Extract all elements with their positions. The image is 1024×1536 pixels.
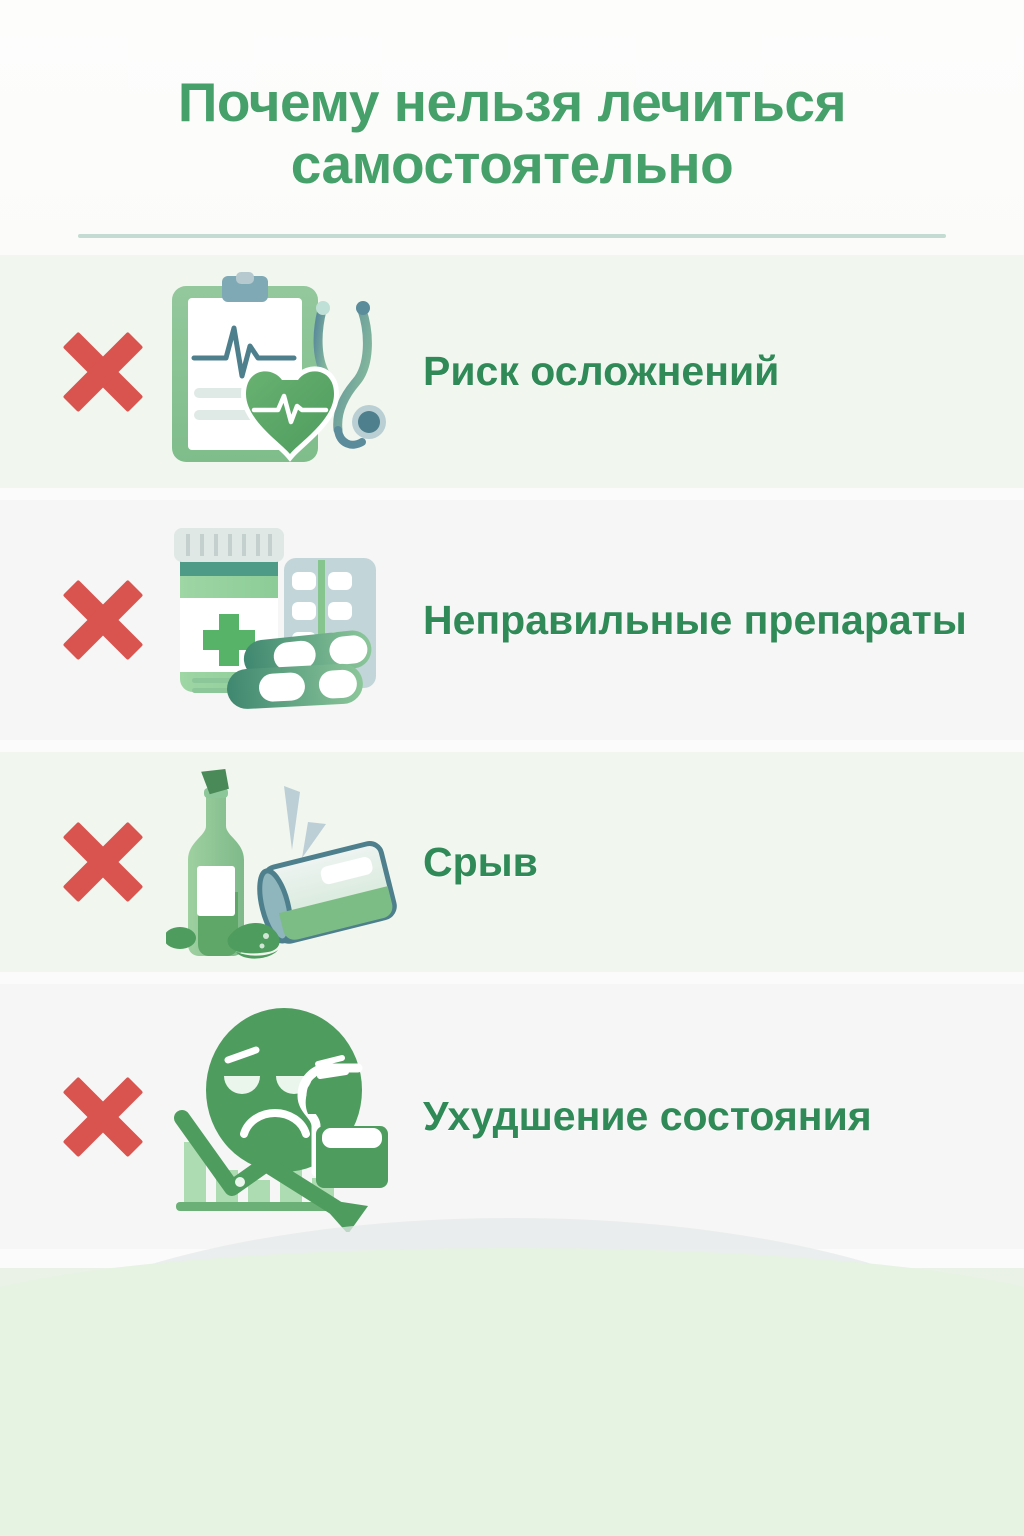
list-item-label: Риск осложнений <box>409 342 1024 400</box>
list-item[interactable]: Срыв <box>0 752 1024 972</box>
list-item[interactable]: Риск осложнений <box>0 255 1024 488</box>
cross-mark-icon <box>55 324 151 420</box>
clipboard-ecg-heart-stethoscope-icon <box>159 272 409 472</box>
cross-mark-icon <box>55 814 151 910</box>
list-item[interactable]: Неправильные препараты <box>0 500 1024 740</box>
list-item-label: Ухудшение состояния <box>409 1087 1024 1145</box>
list-item-label: Срыв <box>409 833 1024 891</box>
list-item[interactable]: Ухудшение состояния <box>0 984 1024 1249</box>
infographic-poster: Почему нельзя лечиться самостоятельно <box>0 0 1024 1536</box>
sad-face-declining-chart-icon <box>159 1002 409 1232</box>
header-divider <box>78 234 946 238</box>
page-title: Почему нельзя лечиться самостоятельно <box>72 72 952 195</box>
reasons-list: Риск осложнений <box>0 255 1024 1261</box>
bottom-fill <box>0 1400 1024 1536</box>
title-line-1: Почему нельзя лечиться <box>178 71 846 133</box>
poster-header: Почему нельзя лечиться самостоятельно <box>0 0 1024 255</box>
cross-mark-icon <box>55 1069 151 1165</box>
title-line-2: самостоятельно <box>291 133 734 195</box>
cross-mark-icon <box>55 572 151 668</box>
pill-bottle-blister-capsules-icon <box>159 520 409 720</box>
bottle-spilled-glass-icon <box>159 762 409 962</box>
list-item-label: Неправильные препараты <box>409 591 1024 649</box>
